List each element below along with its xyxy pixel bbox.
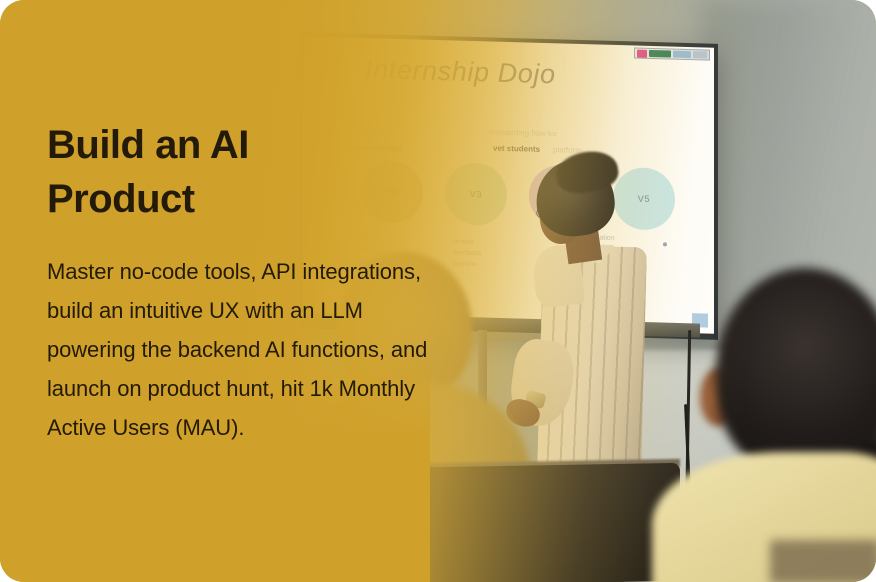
copy-block: Build an AI Product Master no-code tools… xyxy=(47,118,437,447)
promo-card: Internship Dojo matching swipe interface… xyxy=(0,0,876,582)
body-copy: Master no-code tools, API integrations, … xyxy=(47,252,437,447)
headline-line-1: Build an AI xyxy=(47,118,437,172)
headline-line-2: Product xyxy=(47,172,437,226)
page-title: Build an AI Product xyxy=(47,118,437,226)
